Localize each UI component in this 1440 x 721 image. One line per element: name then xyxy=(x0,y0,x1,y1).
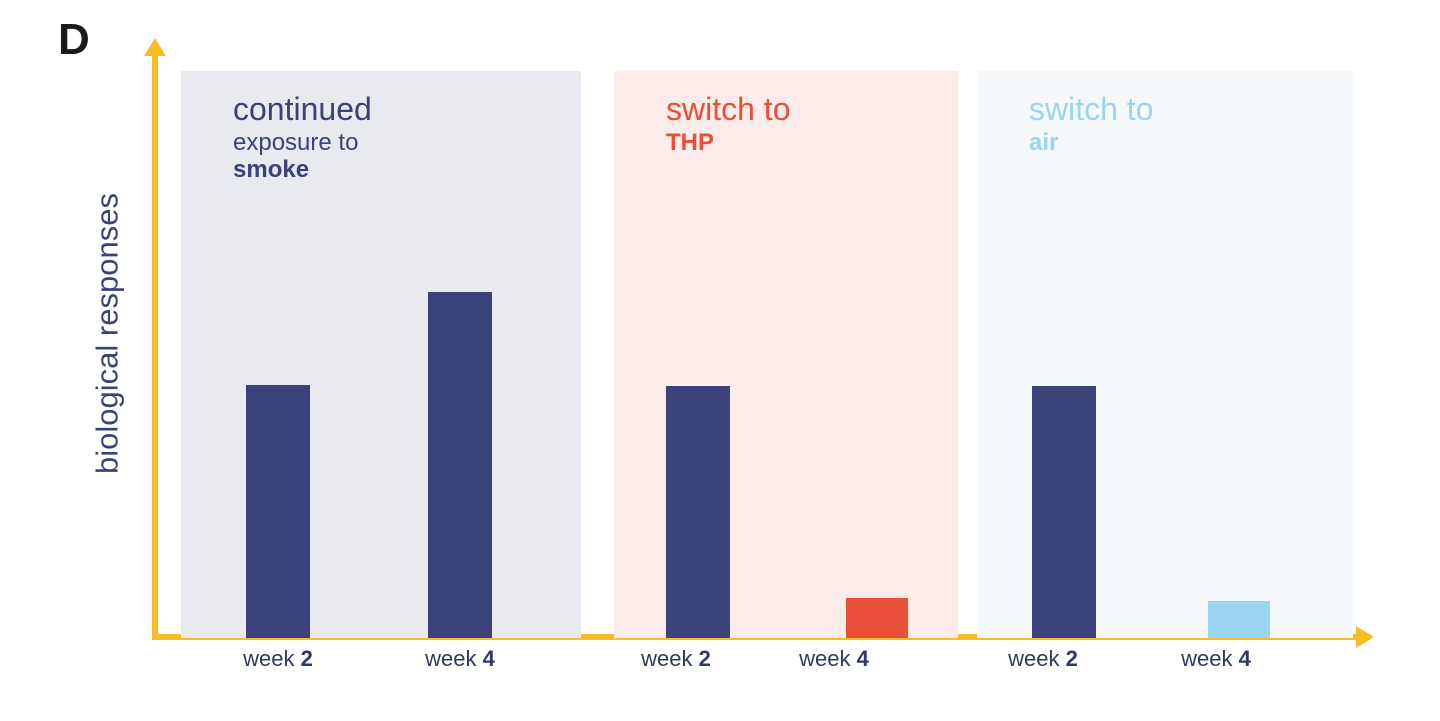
x-tick-label: week 4 xyxy=(425,648,495,670)
tick-word: week xyxy=(425,646,482,671)
bar-continued-smoke-week-4 xyxy=(428,292,492,638)
panel-title-key: air xyxy=(1029,131,1153,155)
panel-title-main: switch to xyxy=(1029,93,1153,125)
bar-switch-to-air-week-4 xyxy=(1208,601,1270,638)
panel-title: switch to air xyxy=(1029,93,1153,155)
panel-title: continued exposure to smoke xyxy=(233,93,372,182)
y-axis-line xyxy=(152,52,158,640)
x-tick-label: week 2 xyxy=(641,648,711,670)
tick-number: 4 xyxy=(483,646,495,671)
x-tick-label: week 2 xyxy=(1008,648,1078,670)
tick-number: 2 xyxy=(1066,646,1078,671)
bar-continued-smoke-week-2 xyxy=(246,385,310,638)
tick-number: 4 xyxy=(857,646,869,671)
tick-word: week xyxy=(641,646,698,671)
x-tick-label: week 4 xyxy=(1181,648,1251,670)
bar-switch-to-thp-week-4 xyxy=(846,598,908,638)
y-axis-arrowhead-icon xyxy=(144,38,166,56)
tick-number: 4 xyxy=(1239,646,1251,671)
tick-word: week xyxy=(243,646,300,671)
tick-number: 2 xyxy=(301,646,313,671)
panel-letter: D xyxy=(58,18,90,62)
panel-title-sub: exposure to xyxy=(233,131,372,155)
x-axis-arrowhead-icon xyxy=(1356,626,1374,648)
panel-title-main: switch to xyxy=(666,93,790,125)
figure-panel-d: D biological responses continued exposur… xyxy=(0,0,1440,721)
panel-title-key: THP xyxy=(666,131,790,155)
bar-switch-to-air-week-2 xyxy=(1032,386,1096,638)
tick-word: week xyxy=(799,646,856,671)
panel-title: switch to THP xyxy=(666,93,790,155)
panel-continued-smoke: continued exposure to smoke xyxy=(181,71,581,638)
tick-word: week xyxy=(1181,646,1238,671)
tick-word: week xyxy=(1008,646,1065,671)
y-axis-title: biological responses xyxy=(92,134,123,534)
panel-title-key: smoke xyxy=(233,158,372,182)
tick-number: 2 xyxy=(699,646,711,671)
panel-title-main: continued xyxy=(233,93,372,125)
x-tick-label: week 4 xyxy=(799,648,869,670)
bar-switch-to-thp-week-2 xyxy=(666,386,730,638)
x-tick-label: week 2 xyxy=(243,648,313,670)
